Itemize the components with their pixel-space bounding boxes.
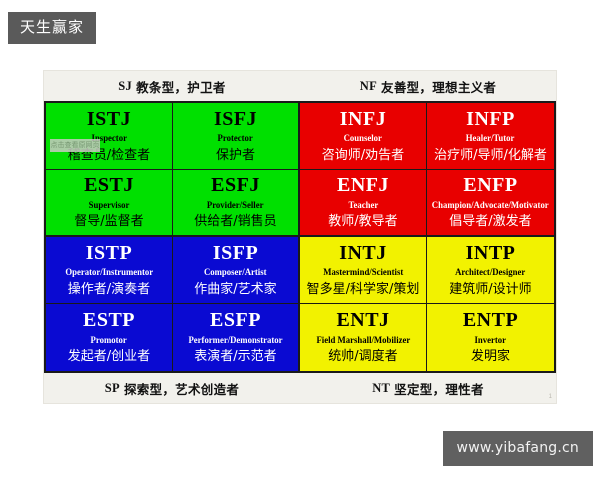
mbti-type-chinese: 保护者: [216, 148, 255, 164]
quadrant-label-sj: SJ 教条型，护卫者: [44, 71, 300, 101]
quadrant-label-nt-text: 坚定型，理性者: [394, 379, 484, 398]
mbti-type-chinese: 供给者/销售员: [194, 214, 276, 230]
mbti-type-english: Promotor: [91, 335, 127, 346]
mbti-type-chinese: 倡导者/激发者: [449, 214, 531, 230]
mbti-cell-intp[interactable]: INTP Architect/Designer 建筑师/设计师: [427, 237, 554, 304]
quadrant-label-sj-code: SJ: [118, 79, 132, 94]
mbti-type-chinese: 操作者/演奏者: [68, 282, 150, 298]
brand-badge: 天生赢家: [8, 12, 96, 44]
mbti-type-english: Healer/Tutor: [466, 133, 515, 144]
mbti-type-code: ENFP: [463, 175, 517, 197]
mbti-cell-entp[interactable]: ENTP Invertor 发明家: [427, 304, 554, 371]
mbti-type-english: Invertor: [475, 335, 507, 346]
mbti-type-english: Teacher: [348, 200, 378, 211]
site-watermark: www.yibafang.cn: [443, 431, 593, 466]
mbti-type-chinese: 智多星/科学家/策划: [307, 282, 420, 298]
mbti-cell-isfp[interactable]: ISFP Composer/Artist 作曲家/艺术家: [173, 237, 300, 304]
mbti-type-english: Mastermind/Scientist: [323, 267, 403, 278]
quadrant-label-sp: SP 探索型，艺术创造者: [44, 373, 300, 403]
site-watermark-label: www.yibafang.cn: [457, 440, 579, 456]
mbti-type-chinese: 发起者/创业者: [68, 349, 150, 365]
mbti-type-code: ESTP: [83, 310, 135, 332]
mbti-cell-infp[interactable]: INFP Healer/Tutor 治疗师/导师/化解者: [427, 103, 554, 170]
mbti-type-english: Provider/Seller: [207, 200, 264, 211]
mbti-type-chinese: 督导/监督者: [74, 214, 143, 230]
quadrant-label-nf-code: NF: [360, 79, 377, 94]
mbti-type-code: ESTJ: [84, 175, 134, 197]
mbti-type-chinese: 教师/教导者: [328, 214, 397, 230]
mbti-type-english: Performer/Demonstrator: [188, 335, 282, 346]
mbti-type-chinese: 治疗师/导师/化解者: [434, 148, 547, 164]
mbti-type-english: Architect/Designer: [455, 267, 525, 278]
mbti-type-english: Champion/Advocate/Motivator: [432, 200, 549, 211]
quadrant-label-nf-text: 友善型，理想主义者: [381, 77, 496, 96]
mbti-cell-estj[interactable]: ESTJ Supervisor 督导/监督者: [46, 170, 173, 237]
mbti-type-code: ENFJ: [337, 175, 389, 197]
mbti-type-code: ENTJ: [336, 310, 389, 332]
mbti-type-code: INTJ: [339, 243, 387, 265]
mbti-type-english: Supervisor: [89, 200, 130, 211]
mbti-type-english: Protector: [218, 133, 253, 144]
mbti-cell-enfp[interactable]: ENFP Champion/Advocate/Motivator 倡导者/激发者: [427, 170, 554, 237]
mbti-type-chinese: 建筑师/设计师: [449, 282, 531, 298]
quadrant-label-sp-text: 探索型，艺术创造者: [124, 379, 239, 398]
chart-top-axis-labels: SJ 教条型，护卫者 NF 友善型，理想主义者: [44, 71, 556, 101]
quadrant-label-nt-code: NT: [372, 381, 390, 396]
mbti-type-chinese: 咨询师/劝告者: [322, 148, 404, 164]
brand-badge-label: 天生赢家: [20, 18, 84, 36]
mbti-cell-isfj[interactable]: ISFJ Protector 保护者: [173, 103, 300, 170]
mbti-type-english: Composer/Artist: [204, 267, 267, 278]
mbti-type-english: Counselor: [344, 133, 382, 144]
quadrant-label-sj-text: 教条型，护卫者: [136, 77, 226, 96]
quadrant-label-nt: NT 坚定型，理性者: [300, 373, 556, 403]
mbti-type-code: ENTP: [463, 310, 518, 332]
mbti-cell-istp[interactable]: ISTP Operator/Instrumentor 操作者/演奏者: [46, 237, 173, 304]
chart-bottom-axis-labels: SP 探索型，艺术创造者 NT 坚定型，理性者: [44, 373, 556, 403]
mbti-type-code: ESFP: [210, 310, 261, 332]
mbti-type-chinese: 表演者/示范者: [194, 349, 276, 365]
mbti-cell-esfp[interactable]: ESFP Performer/Demonstrator 表演者/示范者: [173, 304, 300, 371]
mbti-cell-enfj[interactable]: ENFJ Teacher 教师/教导者: [300, 170, 427, 237]
mbti-cell-infj[interactable]: INFJ Counselor 咨询师/劝告者: [300, 103, 427, 170]
mbti-type-code: ISFJ: [214, 109, 257, 131]
mbti-type-chinese: 发明家: [471, 349, 510, 365]
mbti-type-code: ISFP: [213, 243, 258, 265]
quadrant-label-nf: NF 友善型，理想主义者: [300, 71, 556, 101]
mbti-type-code: INTP: [466, 243, 516, 265]
view-original-page-overlay[interactable]: 点击查看原网页: [50, 139, 100, 152]
mbti-type-code: ISTP: [86, 243, 132, 265]
mbti-type-chinese: 作曲家/艺术家: [194, 282, 276, 298]
mbti-cell-estp[interactable]: ESTP Promotor 发起者/创业者: [46, 304, 173, 371]
corner-page-mark: 1: [549, 394, 552, 400]
mbti-type-code: ISTJ: [87, 109, 131, 131]
mbti-cell-entj[interactable]: ENTJ Field Marshall/Mobilizer 统帅/调度者: [300, 304, 427, 371]
mbti-type-english: Field Marshall/Mobilizer: [316, 335, 410, 346]
mbti-cell-istj[interactable]: 点击查看原网页 ISTJ Inspector 稽查员/检查者: [46, 103, 173, 170]
mbti-type-code: INFJ: [340, 109, 386, 131]
mbti-type-english: Operator/Instrumentor: [65, 267, 153, 278]
mbti-chart-card: SJ 教条型，护卫者 NF 友善型，理想主义者 点击查看原网页 ISTJ Ins…: [44, 71, 556, 403]
mbti-type-grid: 点击查看原网页 ISTJ Inspector 稽查员/检查者 ISFJ Prot…: [44, 101, 556, 373]
mbti-type-code: INFP: [466, 109, 515, 131]
mbti-cell-esfj[interactable]: ESFJ Provider/Seller 供给者/销售员: [173, 170, 300, 237]
mbti-type-code: ESFJ: [211, 175, 260, 197]
mbti-cell-intj[interactable]: INTJ Mastermind/Scientist 智多星/科学家/策划: [300, 237, 427, 304]
quadrant-label-sp-code: SP: [105, 381, 120, 396]
mbti-type-chinese: 统帅/调度者: [328, 349, 397, 365]
